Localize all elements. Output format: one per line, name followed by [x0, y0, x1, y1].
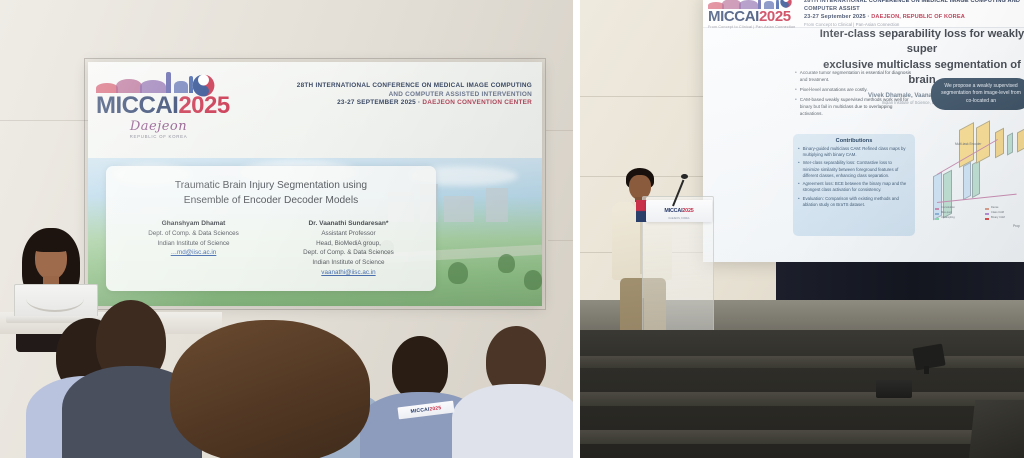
building-shape: [444, 196, 474, 222]
badge-year: 2025: [429, 405, 442, 412]
projected-slide-right: MICCAI 2025 From Concept to Clinical | P…: [703, 0, 1024, 262]
podium-banner: MICCAI2025 DAEJEON, KOREA: [646, 200, 712, 222]
conference-line2: 23-27 September 2025 · DAEJEON, REPUBLIC…: [804, 14, 1024, 22]
microphone-icon: [681, 174, 688, 179]
miccai-logo: MICCAI 2025 Daejeon REPUBLIC OF KOREA: [96, 72, 221, 139]
diagram-layer: [933, 172, 942, 221]
proposal-callout-box: We propose a weakly supervised segmentat…: [931, 78, 1024, 110]
author-affiliation: Assistant Professor: [277, 229, 420, 239]
list-item: •Agreement loss: BCE between the binary …: [798, 181, 910, 193]
tree-shape: [448, 262, 468, 284]
slide-photo-band: [88, 158, 542, 306]
architecture-diagram: Multi-task Encoder Convolution Max-pool …: [929, 116, 1024, 230]
bullet-text: Pixel-level annotations are costly.: [800, 87, 868, 95]
conference-line1: 28TH INTERNATIONAL CONFERENCE ON MEDICAL…: [297, 82, 532, 91]
list-item: •Binary-guided multiclass CAM: Refined c…: [798, 146, 910, 158]
bullet-text: CAM-based weakly supervised methods work…: [800, 97, 913, 118]
stage-panel: [969, 400, 1024, 458]
podium-banner-text: MICCAI: [664, 208, 682, 214]
logo-wordmark: MICCAI: [708, 9, 759, 24]
presenter-hair-front: [32, 236, 70, 252]
author-email[interactable]: vaanathi@iisc.ac.in: [277, 268, 420, 278]
stage-monitor-speaker: [876, 380, 912, 398]
list-item: •Pixel-level annotations are costly.: [795, 87, 913, 95]
diagram-caption: Prop: [1013, 224, 1020, 228]
bullet-text: Accurate tumor segmentation is essential…: [800, 70, 913, 84]
diagram-layer: [1017, 127, 1024, 152]
logo-city-sub: REPUBLIC OF KOREA: [96, 134, 221, 139]
right-conference-photo: MICCAI 2025 From Concept to Clinical | P…: [580, 0, 1024, 458]
cloud-shape: [408, 166, 518, 186]
building-shape: [388, 192, 414, 222]
tree-shape: [356, 236, 372, 254]
conference-venue: DAEJEON, REPUBLIC OF KOREA: [871, 14, 965, 20]
conference-tagline: From Concept to Clinical | Pan-Asian Con…: [804, 22, 1024, 28]
diagram-layer: [963, 162, 971, 200]
conference-header-left: 28TH INTERNATIONAL CONFERENCE ON MEDICAL…: [297, 82, 532, 108]
badge-text: MICCAI: [410, 407, 430, 415]
author-affiliation: Indian Institute of Science: [122, 239, 265, 249]
author-affiliation: Dept. of Comp. & Data Sciences: [122, 229, 265, 239]
diagram-arrow: [937, 194, 1017, 203]
taegeuk-icon: [192, 74, 215, 97]
building-shape: [420, 184, 438, 222]
diagram-layer: [959, 122, 974, 168]
talk-title-card: Traumatic Brain Injury Segmentation usin…: [106, 166, 436, 291]
diagram-label: Multi-task Encoder: [955, 142, 981, 146]
stage-light-stem: [924, 366, 929, 374]
author-name: Dr. Vaanathi Sundaresan*: [277, 219, 420, 229]
diagram-layer: [1007, 132, 1013, 155]
author-affiliation: Dept. of Comp. & Data Sciences: [277, 248, 420, 258]
photo-divider: [573, 0, 580, 458]
bullet-icon: •: [798, 146, 800, 158]
miccai-logo-right: MICCAI 2025 From Concept to Clinical | P…: [708, 0, 800, 29]
author-affiliation: Head, BioMediA group,: [277, 239, 420, 249]
skyline-icon: [96, 72, 214, 93]
contribution-text: Inter-class separability loss: Contrasti…: [803, 160, 910, 179]
logo-wordmark: MICCAI: [96, 94, 178, 118]
diagram-layer: [995, 128, 1004, 159]
conference-line2: AND COMPUTER ASSISTED INTERVENTION: [297, 91, 532, 100]
bullet-icon: •: [795, 97, 797, 118]
diagram-layer: [972, 160, 980, 198]
cloud-shape: [238, 160, 358, 186]
left-conference-photo: MICCAI 2025 Daejeon REPUBLIC OF KOREA 28…: [0, 0, 573, 458]
bullet-icon: •: [795, 70, 797, 84]
authors-row: Ghanshyam Dhamat Dept. of Comp. & Data S…: [116, 219, 426, 278]
conference-line3: 23-27 SEPTEMBER 2025 · DAEJEON CONVENTIO…: [297, 99, 532, 108]
conference-sep: ·: [416, 99, 422, 106]
bullet-icon: •: [798, 160, 800, 179]
bullet-icon: •: [795, 87, 797, 95]
contributions-heading: Contributions: [798, 138, 910, 144]
photo-composite: MICCAI 2025 Daejeon REPUBLIC OF KOREA 28…: [0, 0, 1024, 458]
wall-seam: [546, 130, 573, 131]
logo-year: 2025: [759, 9, 791, 24]
road-shape: [338, 245, 542, 266]
diagram-arrow: [937, 139, 998, 175]
diagram-layer: [943, 170, 952, 219]
author-block-1: Ghanshyam Dhamat Dept. of Comp. & Data S…: [122, 219, 265, 278]
author-affiliation: Indian Institute of Science: [277, 258, 420, 268]
tree-shape: [524, 270, 542, 290]
list-item: •Accurate tumor segmentation is essentia…: [795, 70, 913, 84]
cloud-shape: [112, 164, 192, 186]
talk-title-line1: Traumatic Brain Injury Segmentation usin…: [116, 178, 426, 193]
bullet-icon: •: [798, 196, 800, 208]
contribution-text: Binary-guided multiclass CAM: Refined cl…: [803, 146, 910, 158]
projected-slide-left: MICCAI 2025 Daejeon REPUBLIC OF KOREA 28…: [88, 62, 542, 306]
poster-title-line2: exclusive multiclass segmentation of bra…: [815, 58, 1024, 89]
contributions-box: Contributions •Binary-guided multiclass …: [793, 134, 915, 236]
author-email[interactable]: …md@iisc.ac.in: [122, 248, 265, 258]
audience-head-foreground: [170, 320, 370, 458]
conference-venue: DAEJEON CONVENTION CENTER: [422, 99, 532, 106]
building-shape: [486, 188, 508, 222]
podium-banner-year: 2025: [682, 208, 693, 214]
wall-seam: [0, 120, 88, 121]
tree-shape: [498, 254, 515, 273]
poster-affiliation: Indian Institute of Science, Bengaluru, …: [815, 100, 1024, 105]
podium-banner-sub: DAEJEON, KOREA: [669, 217, 690, 220]
stage-front: [580, 330, 1024, 458]
skyline-icon: [708, 0, 792, 9]
audience-shoulders: [452, 384, 573, 458]
poster-authors: Vivek Dhamale, Vaanathi Sundaresan: [815, 92, 1024, 99]
wall-seam: [548, 240, 573, 241]
list-item: •CAM-based weakly supervised methods wor…: [795, 97, 913, 118]
conference-line1: 28TH INTERNATIONAL CONFERENCE ON MEDICAL…: [804, 0, 1024, 14]
talk-title-line2: Ensemble of Encoder Decoder Models: [116, 193, 426, 208]
list-item: •Evaluation: Comparison with existing me…: [798, 196, 910, 208]
contribution-text: Agreement loss: BCE between the binary m…: [803, 181, 910, 193]
audience-head: [392, 336, 448, 400]
author-name: Ghanshyam Dhamat: [122, 219, 265, 229]
intro-bullet-list: •Accurate tumor segmentation is essentia…: [795, 70, 913, 121]
poster-title-line1: Inter-class separability loss for weakly…: [815, 27, 1024, 58]
poster-title-block: Inter-class separability loss for weakly…: [815, 27, 1024, 105]
conference-date: 23-27 September 2025 ·: [804, 14, 871, 20]
author-block-2: Dr. Vaanathi Sundaresan* Assistant Profe…: [277, 219, 420, 278]
diagram-layer: [976, 120, 990, 163]
tree-shape: [380, 240, 394, 255]
taegeuk-icon: [780, 0, 792, 8]
list-item: •Inter-class separability loss: Contrast…: [798, 160, 910, 179]
conference-header-right: 28TH INTERNATIONAL CONFERENCE ON MEDICAL…: [804, 0, 1024, 29]
contribution-text: Evaluation: Comparison with existing met…: [803, 196, 910, 208]
conference-date: 23-27 SEPTEMBER 2025: [337, 99, 416, 106]
proposal-text: We propose a weakly supervised segmentat…: [939, 83, 1023, 106]
logo-year: 2025: [178, 94, 229, 118]
logo-tagline: From Concept to Clinical | Pan-Asian Con…: [708, 25, 800, 29]
logo-city-script: Daejeon: [96, 119, 221, 134]
bullet-icon: •: [798, 181, 800, 193]
slide-header-band: [703, 0, 1024, 28]
